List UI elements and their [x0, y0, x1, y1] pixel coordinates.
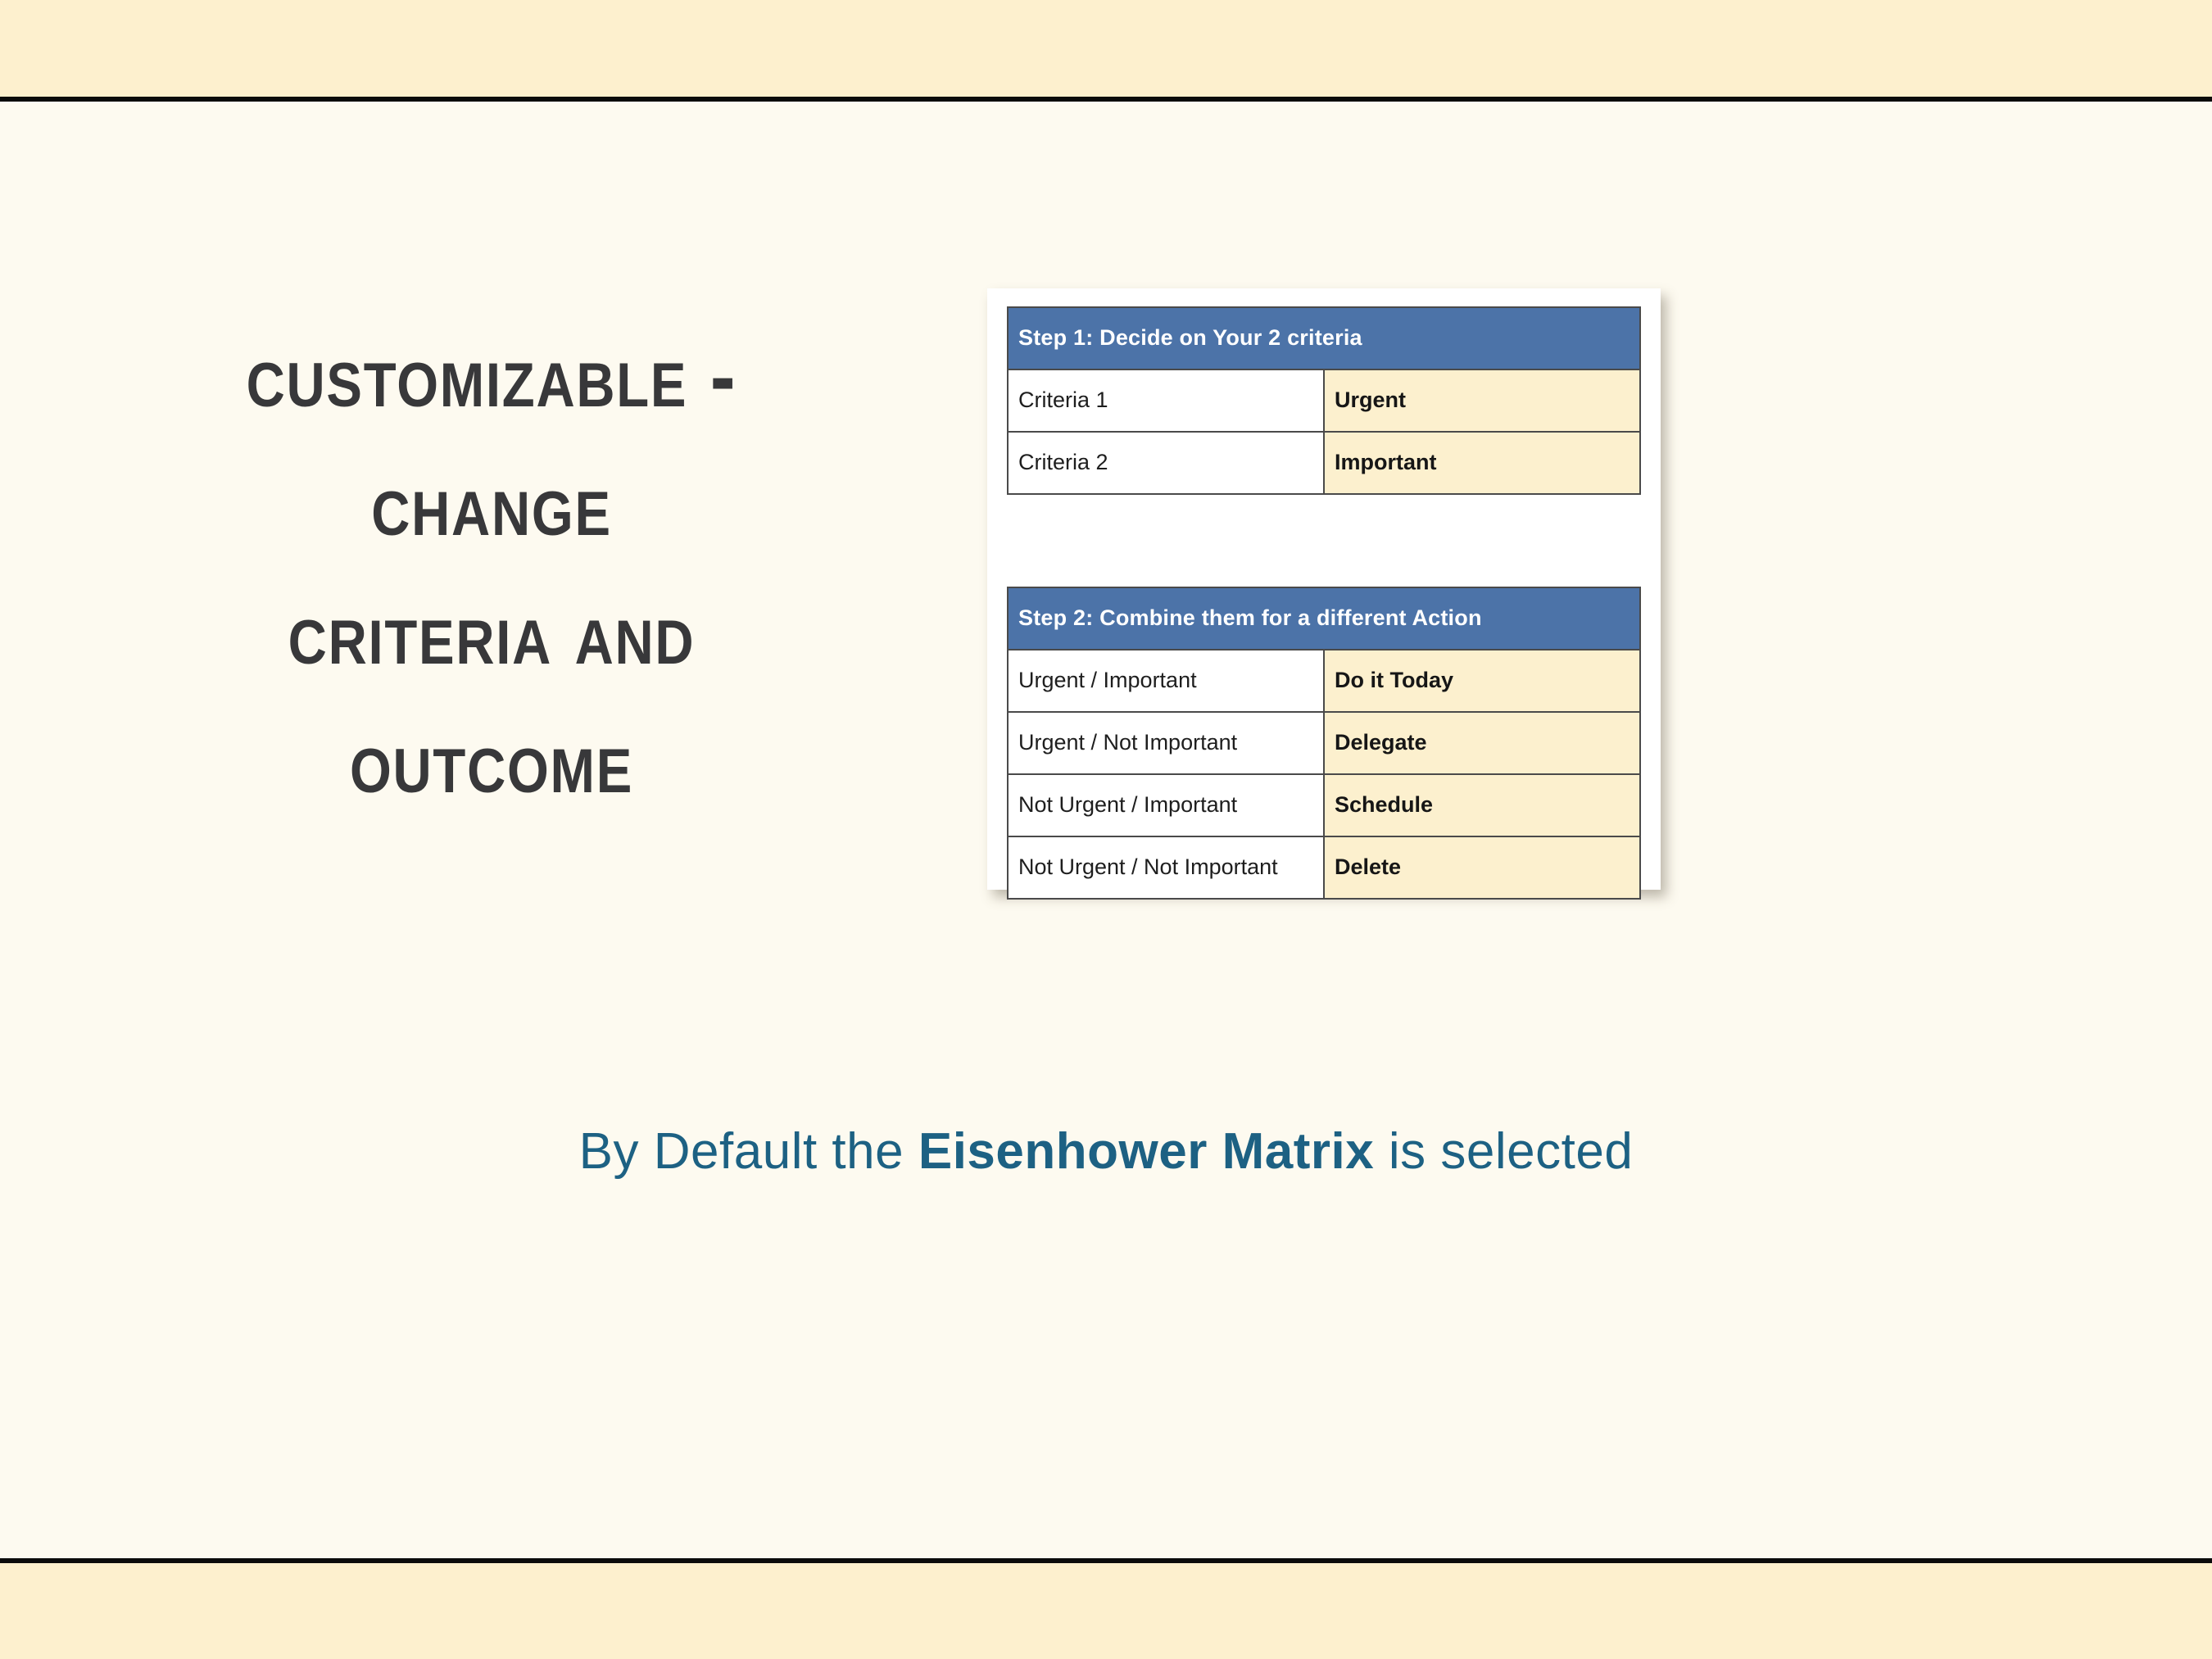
table-spacer — [1007, 495, 1641, 587]
top-accent-band — [0, 0, 2212, 102]
step-2-table: Step 2: Combine them for a different Act… — [1007, 587, 1641, 900]
criteria-1-value: Urgent — [1324, 369, 1640, 432]
bottom-accent-band — [0, 1558, 2212, 1659]
slide-canvas: Customizable - Change criteria and Outco… — [0, 0, 2212, 1659]
combo-4-action: Delete — [1324, 836, 1640, 899]
caption-emphasis: Eisenhower Matrix — [918, 1123, 1374, 1180]
combo-4-label: Not Urgent / Not Important — [1008, 836, 1324, 899]
criteria-2-label: Criteria 2 — [1008, 432, 1324, 494]
table-row: Criteria 2 Important — [1008, 432, 1640, 494]
combo-3-action: Schedule — [1324, 774, 1640, 836]
step-1-header: Step 1: Decide on Your 2 criteria — [1008, 307, 1640, 369]
table-row: Urgent / Important Do it Today — [1008, 650, 1640, 712]
table-header-row: Step 1: Decide on Your 2 criteria — [1008, 307, 1640, 369]
table-row: Urgent / Not Important Delegate — [1008, 712, 1640, 774]
table-row: Criteria 1 Urgent — [1008, 369, 1640, 432]
criteria-1-label: Criteria 1 — [1008, 369, 1324, 432]
step-2-header: Step 2: Combine them for a different Act… — [1008, 587, 1640, 650]
combo-1-label: Urgent / Important — [1008, 650, 1324, 712]
caption-suffix: is selected — [1374, 1123, 1633, 1180]
table-row: Not Urgent / Not Important Delete — [1008, 836, 1640, 899]
title-line-1: Customizable - — [175, 311, 809, 440]
criteria-2-value: Important — [1324, 432, 1640, 494]
table-header-row: Step 2: Combine them for a different Act… — [1008, 587, 1640, 650]
combo-3-label: Not Urgent / Important — [1008, 774, 1324, 836]
combo-2-label: Urgent / Not Important — [1008, 712, 1324, 774]
step-1-table: Step 1: Decide on Your 2 criteria Criter… — [1007, 306, 1641, 495]
title-line-4: Outcome — [175, 697, 809, 826]
eisenhower-matrix-image: Step 1: Decide on Your 2 criteria Criter… — [987, 288, 1661, 890]
combo-2-action: Delegate — [1324, 712, 1640, 774]
caption: By Default the Eisenhower Matrix is sele… — [0, 1122, 2212, 1181]
table-row: Not Urgent / Important Schedule — [1008, 774, 1640, 836]
combo-1-action: Do it Today — [1324, 650, 1640, 712]
title-line-2: Change — [175, 440, 809, 569]
page-title: Customizable - Change criteria and Outco… — [123, 311, 860, 826]
caption-prefix: By Default the — [579, 1123, 918, 1180]
matrix-raster-content: Step 1: Decide on Your 2 criteria Criter… — [1007, 306, 1641, 900]
title-line-3: criteria and — [175, 569, 809, 697]
